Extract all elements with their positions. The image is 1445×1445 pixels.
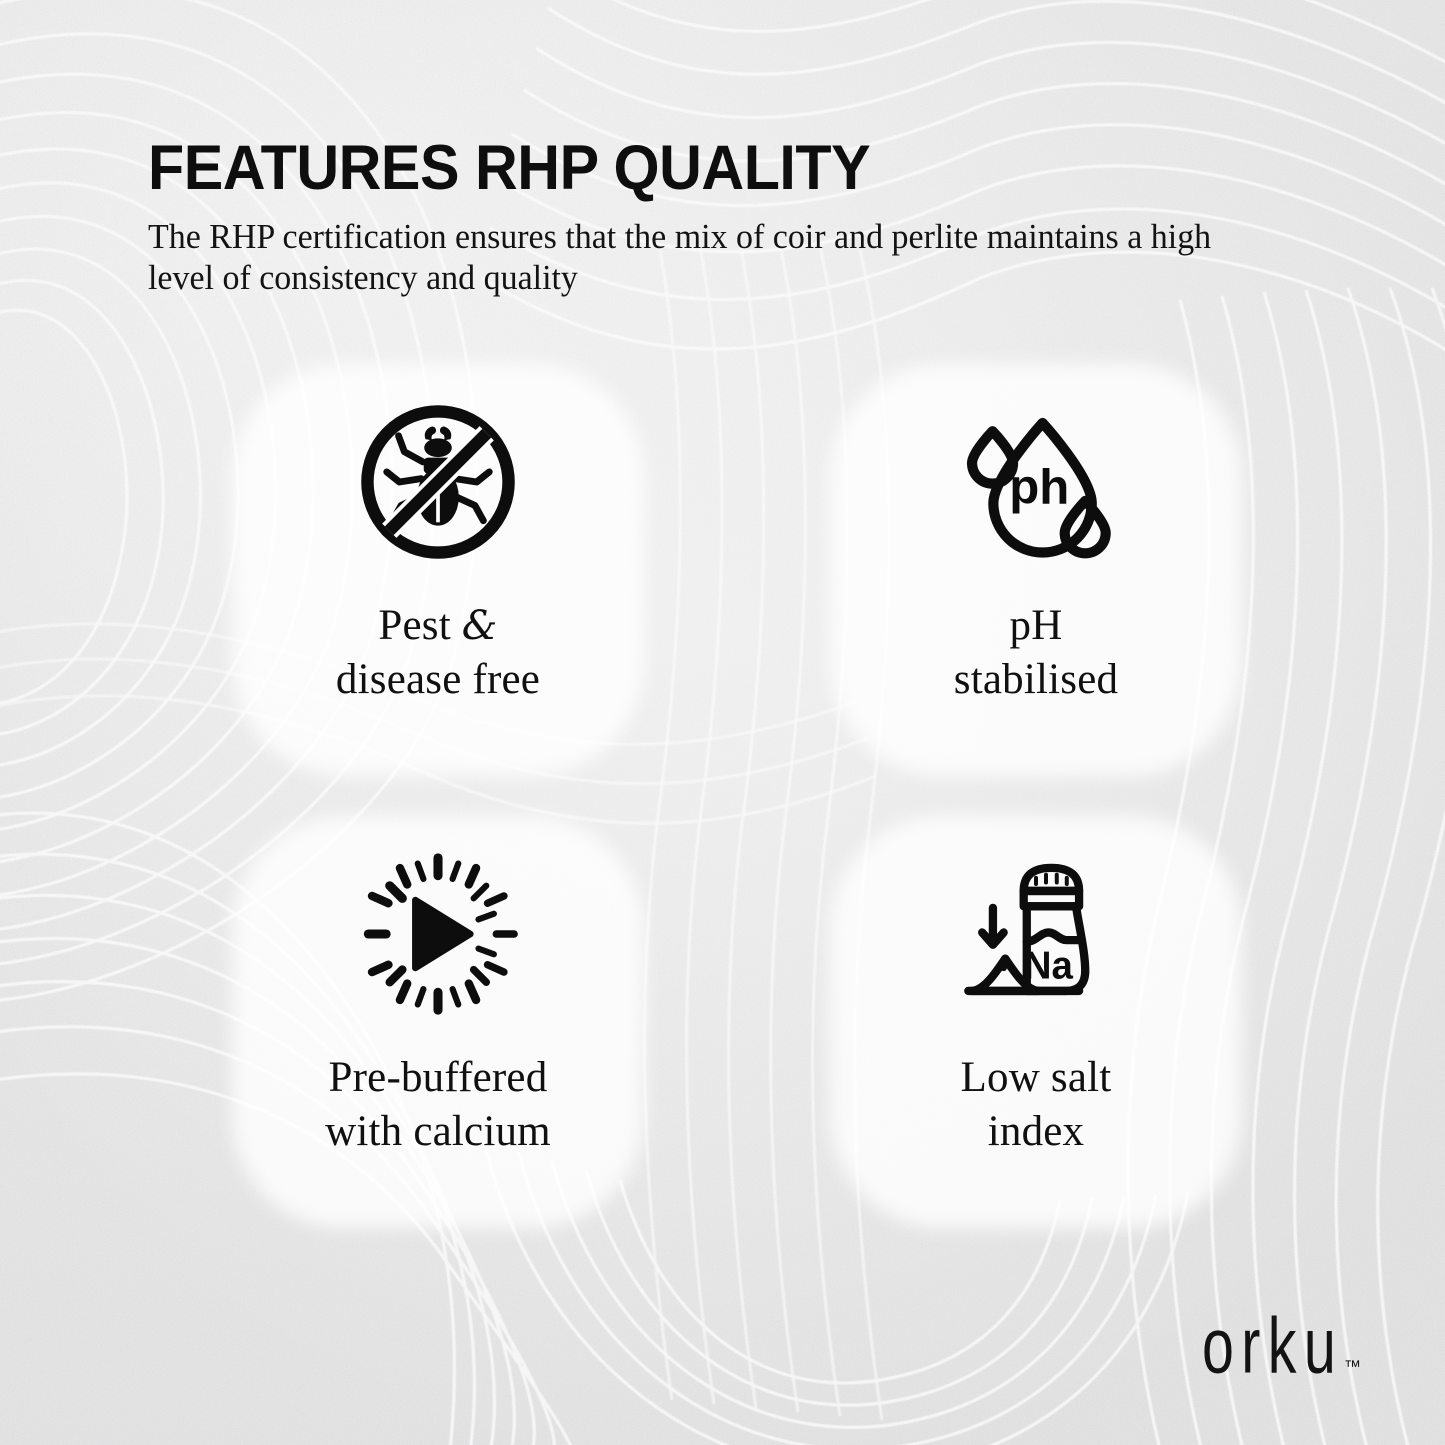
brand-logo-wordmark: orku [1202,1307,1343,1385]
feature-label-line2: disease free [336,656,540,703]
feature-label-line1: Low salt [961,1054,1112,1101]
feature-label: Low salt index [961,1051,1112,1159]
play-burst-icon [357,816,519,1051]
feature-grid: Pest & disease free [232,364,1242,1228]
feature-label-line1: Pre-buffered [329,1054,548,1101]
no-pest-icon [354,364,522,599]
salt-shaker-icon: Na [956,816,1116,1051]
feature-label-line1: Pest & [378,602,497,649]
page-subtitle: The RHP certification ensures that the m… [148,216,1259,298]
feature-card-ph-stabilised: ph pH stabilised [830,364,1242,776]
feature-label-line1: pH [1010,602,1063,649]
ph-icon-text: ph [1009,459,1069,514]
header: FEATURES RHP QUALITY The RHP certificati… [148,136,1328,298]
feature-label-line2: with calcium [325,1108,551,1155]
na-icon-text: Na [1024,944,1074,987]
page-title: FEATURES RHP QUALITY [148,136,1257,200]
feature-infographic-page: FEATURES RHP QUALITY The RHP certificati… [0,0,1445,1445]
feature-card-pre-buffered: Pre-buffered with calcium [232,816,644,1228]
feature-label: Pest & disease free [336,599,540,707]
feature-label: Pre-buffered with calcium [325,1051,551,1159]
feature-card-pest-disease-free: Pest & disease free [232,364,644,776]
feature-label-line2: stabilised [954,656,1118,703]
feature-label-line2: index [988,1108,1085,1155]
ph-droplet-icon: ph [954,364,1118,599]
feature-label: pH stabilised [954,599,1118,707]
brand-logo: orku ™ [1171,1315,1361,1385]
trademark-symbol: ™ [1344,1358,1361,1375]
feature-card-low-salt-index: Na Low salt index [830,816,1242,1228]
